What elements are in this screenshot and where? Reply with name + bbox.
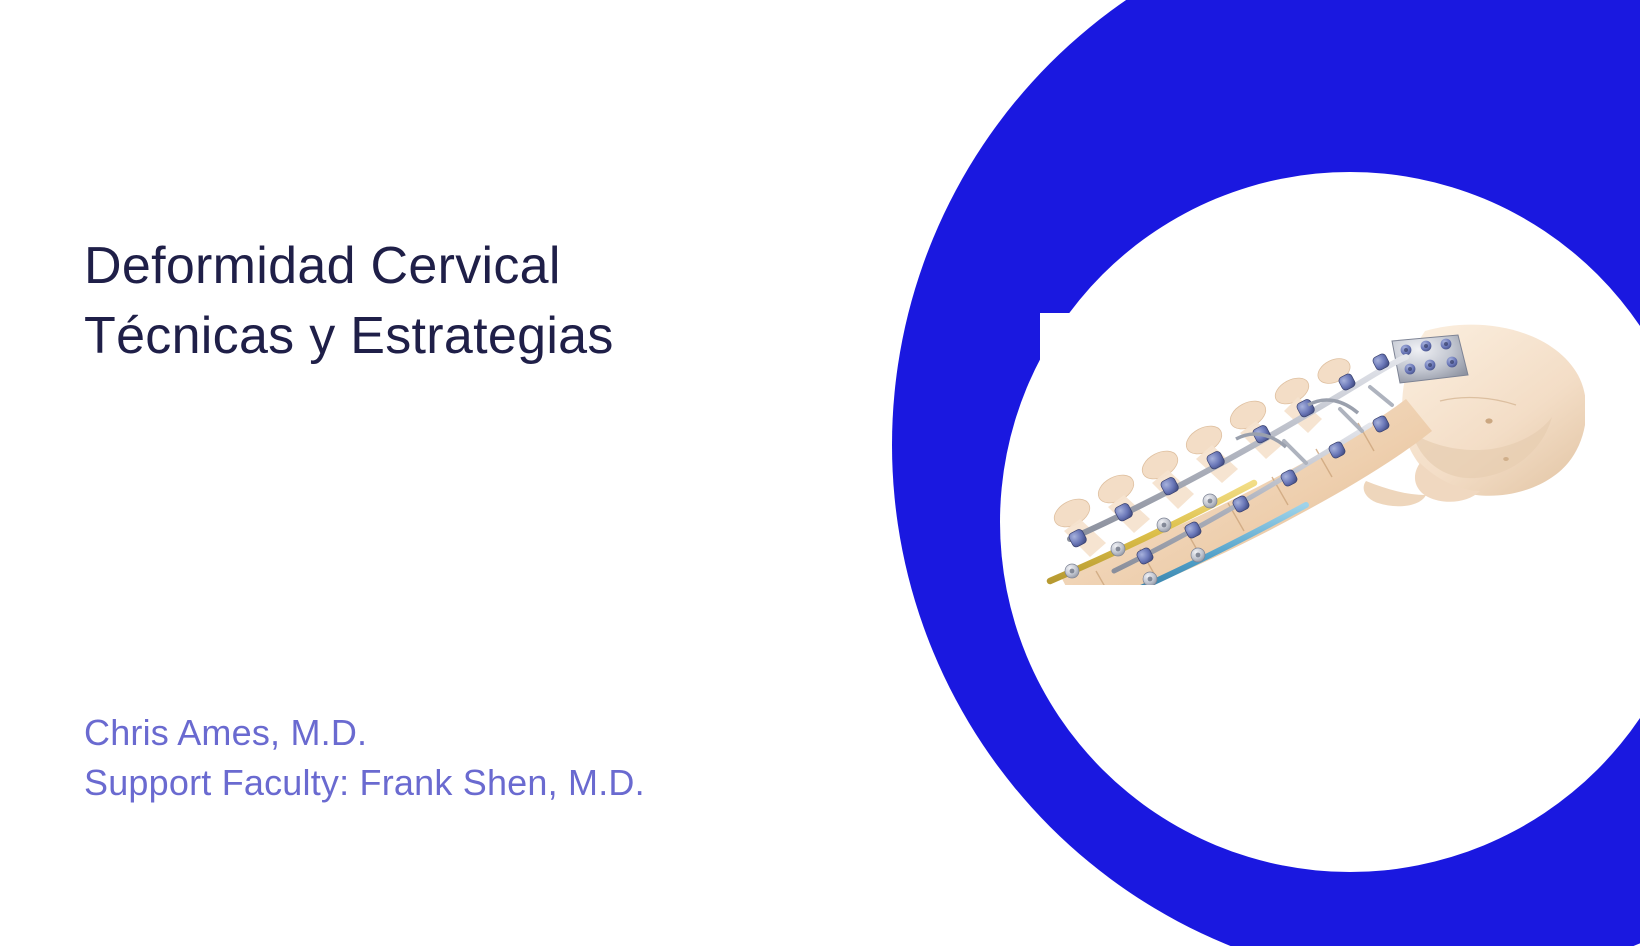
byline: Chris Ames, M.D. Support Faculty: Frank … [84, 708, 784, 808]
page-title: Deformidad Cervical Técnicas y Estrategi… [84, 231, 784, 371]
title-slide: Deformidad Cervical Técnicas y Estrategi… [0, 0, 1640, 946]
text-column: Deformidad Cervical Técnicas y Estrategi… [84, 0, 784, 946]
byline-support-faculty: Support Faculty: Frank Shen, M.D. [84, 758, 784, 808]
title-line-2: Técnicas y Estrategias [84, 301, 784, 371]
cervical-spine-image [1040, 313, 1585, 585]
byline-presenter: Chris Ames, M.D. [84, 708, 784, 758]
title-line-1: Deformidad Cervical [84, 231, 784, 301]
